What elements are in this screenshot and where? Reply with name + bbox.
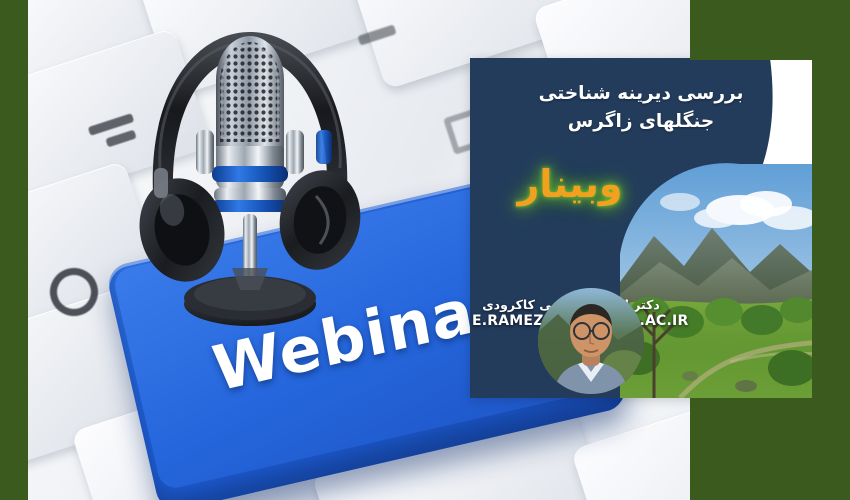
mic-yoke-left: [196, 130, 214, 174]
presenter-avatar: [538, 288, 644, 394]
microphone-svg: [120, 18, 380, 348]
poster-title-line1: بررسی دیرینه شناختی: [486, 80, 796, 108]
poster-title-line2: جنگلهای زاگرس: [486, 108, 796, 136]
webinar-poster-card: بررسی دیرینه شناختی جنگلهای زاگرس وبینار…: [470, 58, 812, 398]
mic-blue-band: [212, 166, 288, 182]
frame-left-strip: [0, 0, 28, 500]
poster-event-type: وبینار: [470, 162, 670, 206]
mic-yoke-right: [286, 130, 304, 174]
poster-title: بررسی دیرینه شناختی جنگلهای زاگرس: [470, 80, 812, 136]
frame-bottom-right-block: [690, 398, 850, 500]
presenter-portrait: [538, 288, 644, 394]
poster-composition: Webinar: [0, 0, 850, 500]
microphone-illustration: [120, 18, 380, 348]
